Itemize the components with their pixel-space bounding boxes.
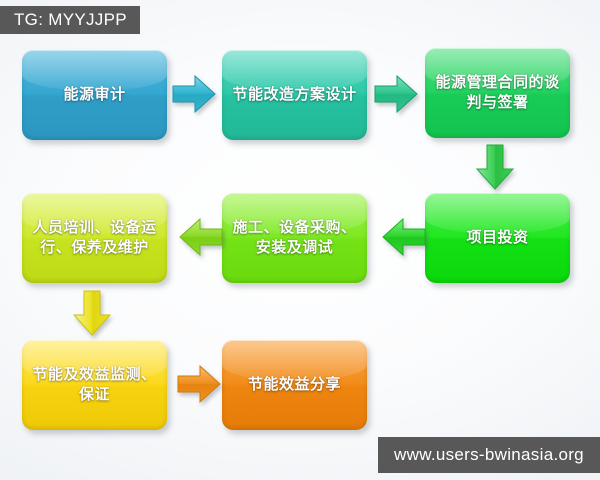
arrow-left-icon (381, 215, 427, 259)
arrow-down-icon (70, 289, 114, 337)
arrow-right-glyph (171, 72, 217, 116)
flowchart-canvas: TG: MYYJJPP www.users-bwinasia.org 能源审计 … (0, 0, 600, 480)
flow-node-project-investment[interactable]: 项目投资 (425, 193, 570, 283)
site-watermark-text: www.users-bwinasia.org (394, 445, 584, 465)
tg-tag-text: TG: MYYJJPP (0, 10, 140, 30)
arrow-right-glyph (176, 362, 222, 406)
flow-node-monitoring-guarantee[interactable]: 节能及效益监测、保证 (22, 340, 167, 430)
flow-node-label: 能源管理合同的谈判与签署 (434, 73, 561, 114)
flow-node-retrofit-plan-design[interactable]: 节能改造方案设计 (222, 50, 367, 140)
arrow-left-icon (178, 215, 224, 259)
arrow-left-glyph (381, 215, 427, 259)
arrow-right-icon (171, 72, 217, 116)
flow-node-energy-audit[interactable]: 能源审计 (22, 50, 167, 140)
arrow-right-icon (176, 362, 222, 406)
flow-node-label: 节能及效益监测、保证 (31, 365, 158, 406)
flow-node-label: 节能改造方案设计 (232, 85, 356, 105)
arrow-down-glyph (473, 143, 517, 191)
flow-node-benefit-sharing[interactable]: 节能效益分享 (222, 340, 367, 430)
flow-node-label: 项目投资 (466, 228, 528, 248)
flow-node-label: 节能效益分享 (248, 375, 341, 395)
flow-node-training-operation-maintenance[interactable]: 人员培训、设备运行、保养及维护 (22, 193, 167, 283)
flow-node-label: 人员培训、设备运行、保养及维护 (31, 218, 158, 259)
arrow-right-glyph (373, 72, 419, 116)
flow-node-label: 能源审计 (63, 85, 125, 105)
arrow-right-icon (373, 72, 419, 116)
flow-node-label: 施工、设备采购、安装及调试 (231, 218, 358, 259)
flow-node-contract-negotiation[interactable]: 能源管理合同的谈判与签署 (425, 48, 570, 138)
site-watermark: www.users-bwinasia.org (378, 437, 600, 473)
tg-tag-label: TG: MYYJJPP (0, 6, 140, 34)
arrow-down-icon (473, 143, 517, 191)
arrow-down-glyph (70, 289, 114, 337)
flow-node-construction-procurement[interactable]: 施工、设备采购、安装及调试 (222, 193, 367, 283)
arrow-left-glyph (178, 215, 224, 259)
